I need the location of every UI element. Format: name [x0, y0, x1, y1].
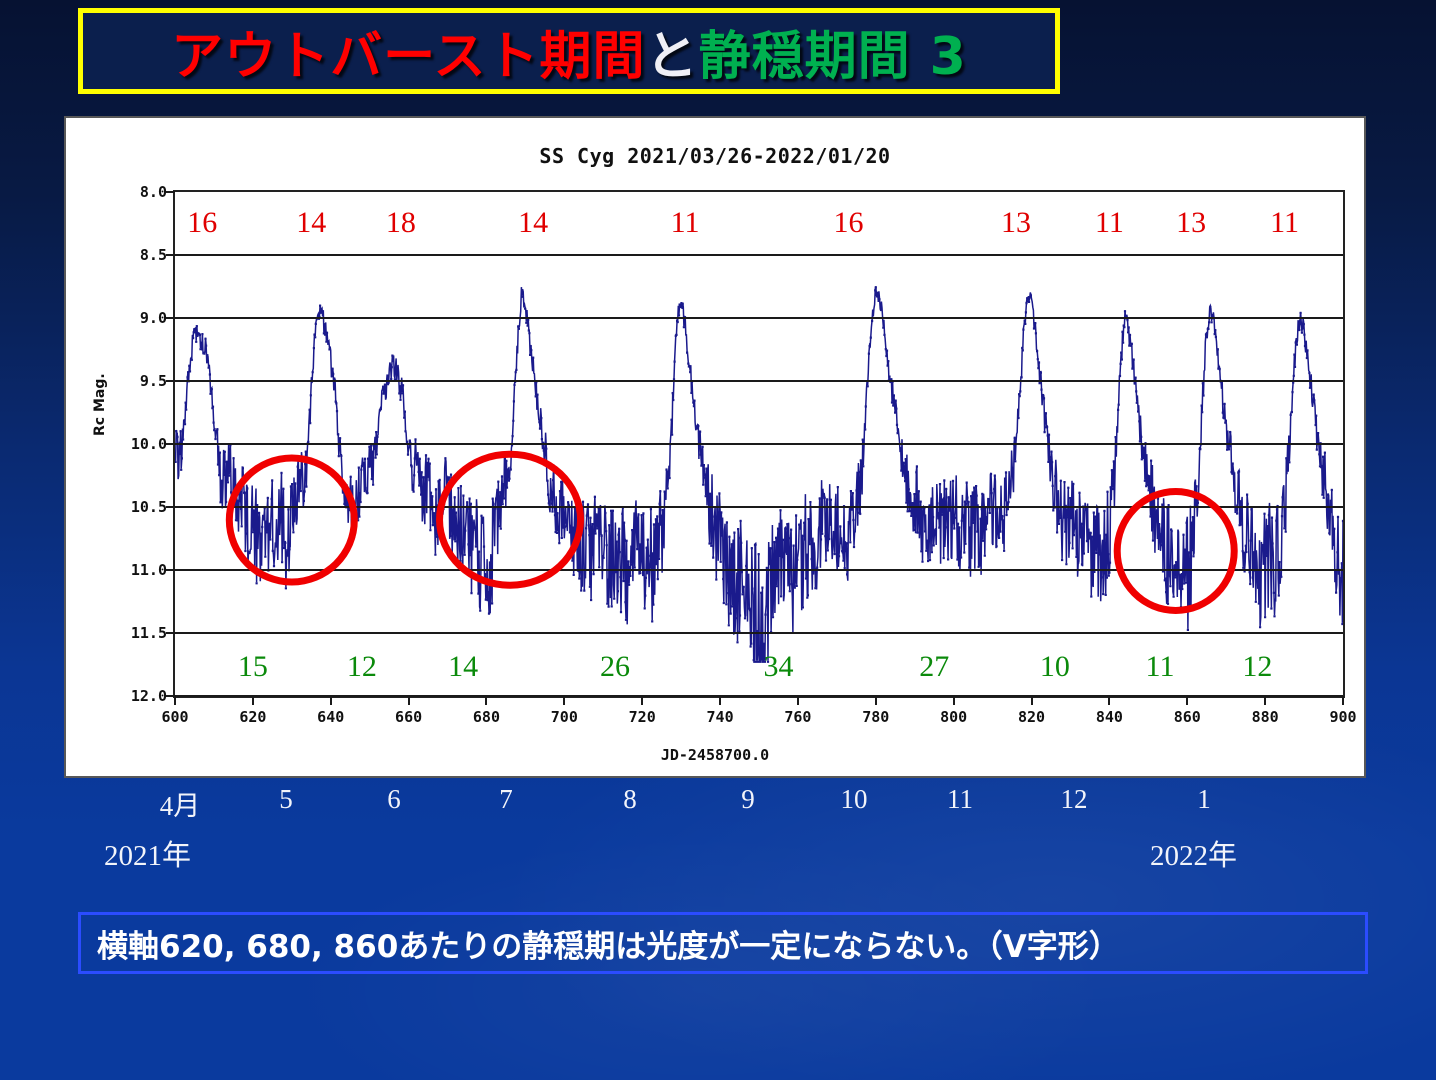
title-part-outburst: アウトバースト期間: [171, 14, 645, 89]
x-tick-label: 880: [1252, 708, 1279, 726]
x-tick-label: 720: [629, 708, 656, 726]
slide-title: アウトバースト期間と静穏期間 3: [83, 13, 1055, 89]
outburst-interval-label: 11: [1270, 206, 1299, 240]
quiescence-interval-label: 12: [1242, 650, 1272, 684]
quiescence-interval-label: 11: [1146, 650, 1175, 684]
y-tick-mark: [166, 317, 175, 319]
outburst-interval-label: 11: [671, 206, 700, 240]
chart-panel: SS Cyg 2021/03/26-2022/01/20 Rc Mag. 8.0…: [64, 116, 1366, 778]
x-axis-label: JD-2458700.0: [66, 746, 1364, 764]
outburst-interval-label: 14: [296, 206, 326, 240]
month-label: 9: [741, 784, 755, 815]
month-label: 10: [841, 784, 868, 815]
x-tick-mark: [174, 696, 176, 705]
x-tick-mark: [719, 696, 721, 705]
x-tick-mark: [330, 696, 332, 705]
quiescence-interval-label: 34: [763, 650, 793, 684]
year-label-start: 2021年: [104, 832, 191, 874]
y-tick-label: 11.5: [131, 624, 167, 642]
x-tick-label: 640: [317, 708, 344, 726]
slide-title-box: アウトバースト期間と静穏期間 3: [78, 8, 1060, 94]
highlight-circle: [226, 454, 358, 585]
x-tick-mark: [1031, 696, 1033, 705]
x-tick-label: 840: [1096, 708, 1123, 726]
quiescence-interval-label: 12: [347, 650, 377, 684]
x-tick-mark: [1342, 696, 1344, 705]
quiescence-interval-label: 27: [919, 650, 949, 684]
chart-title: SS Cyg 2021/03/26-2022/01/20: [66, 144, 1364, 168]
outburst-interval-label: 11: [1095, 206, 1124, 240]
caption-text: 横軸620, 680, 860あたりの静穏期は光度が一定にならない。（V字形）: [81, 921, 1120, 966]
title-part-quiescence: 静穏期間 3: [699, 14, 967, 89]
x-tick-label: 620: [239, 708, 266, 726]
x-tick-mark: [563, 696, 565, 705]
x-tick-label: 740: [707, 708, 734, 726]
y-tick-label: 11.0: [131, 561, 167, 579]
x-tick-label: 900: [1329, 708, 1356, 726]
y-tick-mark: [166, 254, 175, 256]
x-tick-label: 660: [395, 708, 422, 726]
gridline-horizontal: [175, 632, 1343, 634]
gridline-horizontal: [175, 695, 1343, 697]
month-axis: 4月567891011121: [64, 784, 1366, 818]
x-tick-mark: [953, 696, 955, 705]
x-tick-label: 780: [862, 708, 889, 726]
quiescence-interval-label: 26: [600, 650, 630, 684]
plot-area: 8.08.59.09.510.010.511.011.512.060062064…: [173, 190, 1345, 698]
x-tick-label: 800: [940, 708, 967, 726]
x-tick-mark: [797, 696, 799, 705]
gridline-horizontal: [175, 254, 1343, 256]
title-part-conjunction: と: [646, 14, 699, 89]
gridline-horizontal: [175, 317, 1343, 319]
gridline-horizontal: [175, 443, 1343, 445]
x-tick-label: 860: [1174, 708, 1201, 726]
outburst-interval-label: 13: [1001, 206, 1031, 240]
x-tick-mark: [875, 696, 877, 705]
year-label-end: 2022年: [1150, 832, 1237, 874]
x-tick-mark: [252, 696, 254, 705]
y-tick-mark: [166, 443, 175, 445]
outburst-interval-label: 16: [187, 206, 217, 240]
y-tick-label: 9.5: [140, 372, 167, 390]
highlight-circle: [436, 450, 584, 589]
month-label: 8: [623, 784, 637, 815]
y-tick-label: 12.0: [131, 687, 167, 705]
month-label: 11: [947, 784, 973, 815]
x-tick-label: 680: [473, 708, 500, 726]
x-tick-mark: [1108, 696, 1110, 705]
x-tick-mark: [1186, 696, 1188, 705]
x-tick-label: 700: [551, 708, 578, 726]
month-label: 5: [279, 784, 293, 815]
outburst-interval-label: 13: [1176, 206, 1206, 240]
y-tick-label: 8.0: [140, 183, 167, 201]
quiescence-interval-label: 15: [238, 650, 268, 684]
x-tick-mark: [1264, 696, 1266, 705]
x-tick-mark: [485, 696, 487, 705]
month-label: 1: [1197, 784, 1211, 815]
x-tick-label: 820: [1018, 708, 1045, 726]
y-tick-label: 10.0: [131, 435, 167, 453]
month-label: 6: [387, 784, 401, 815]
y-tick-mark: [166, 506, 175, 508]
outburst-interval-label: 14: [518, 206, 548, 240]
y-tick-label: 9.0: [140, 309, 167, 327]
month-label: 4月: [160, 784, 201, 823]
x-tick-mark: [641, 696, 643, 705]
y-tick-label: 10.5: [131, 498, 167, 516]
x-tick-mark: [408, 696, 410, 705]
quiescence-interval-label: 14: [448, 650, 478, 684]
month-label: 12: [1061, 784, 1088, 815]
x-tick-label: 600: [161, 708, 188, 726]
outburst-interval-label: 18: [386, 206, 416, 240]
highlight-circle: [1113, 488, 1238, 614]
y-tick-mark: [166, 632, 175, 634]
y-axis-label: Rc Mag.: [92, 373, 108, 436]
y-tick-mark: [166, 380, 175, 382]
y-tick-label: 8.5: [140, 246, 167, 264]
caption-box: 横軸620, 680, 860あたりの静穏期は光度が一定にならない。（V字形）: [78, 912, 1368, 974]
y-tick-mark: [166, 569, 175, 571]
y-tick-mark: [166, 191, 175, 193]
x-tick-label: 760: [784, 708, 811, 726]
gridline-horizontal: [175, 380, 1343, 382]
outburst-interval-label: 16: [834, 206, 864, 240]
quiescence-interval-label: 10: [1040, 650, 1070, 684]
month-label: 7: [499, 784, 513, 815]
